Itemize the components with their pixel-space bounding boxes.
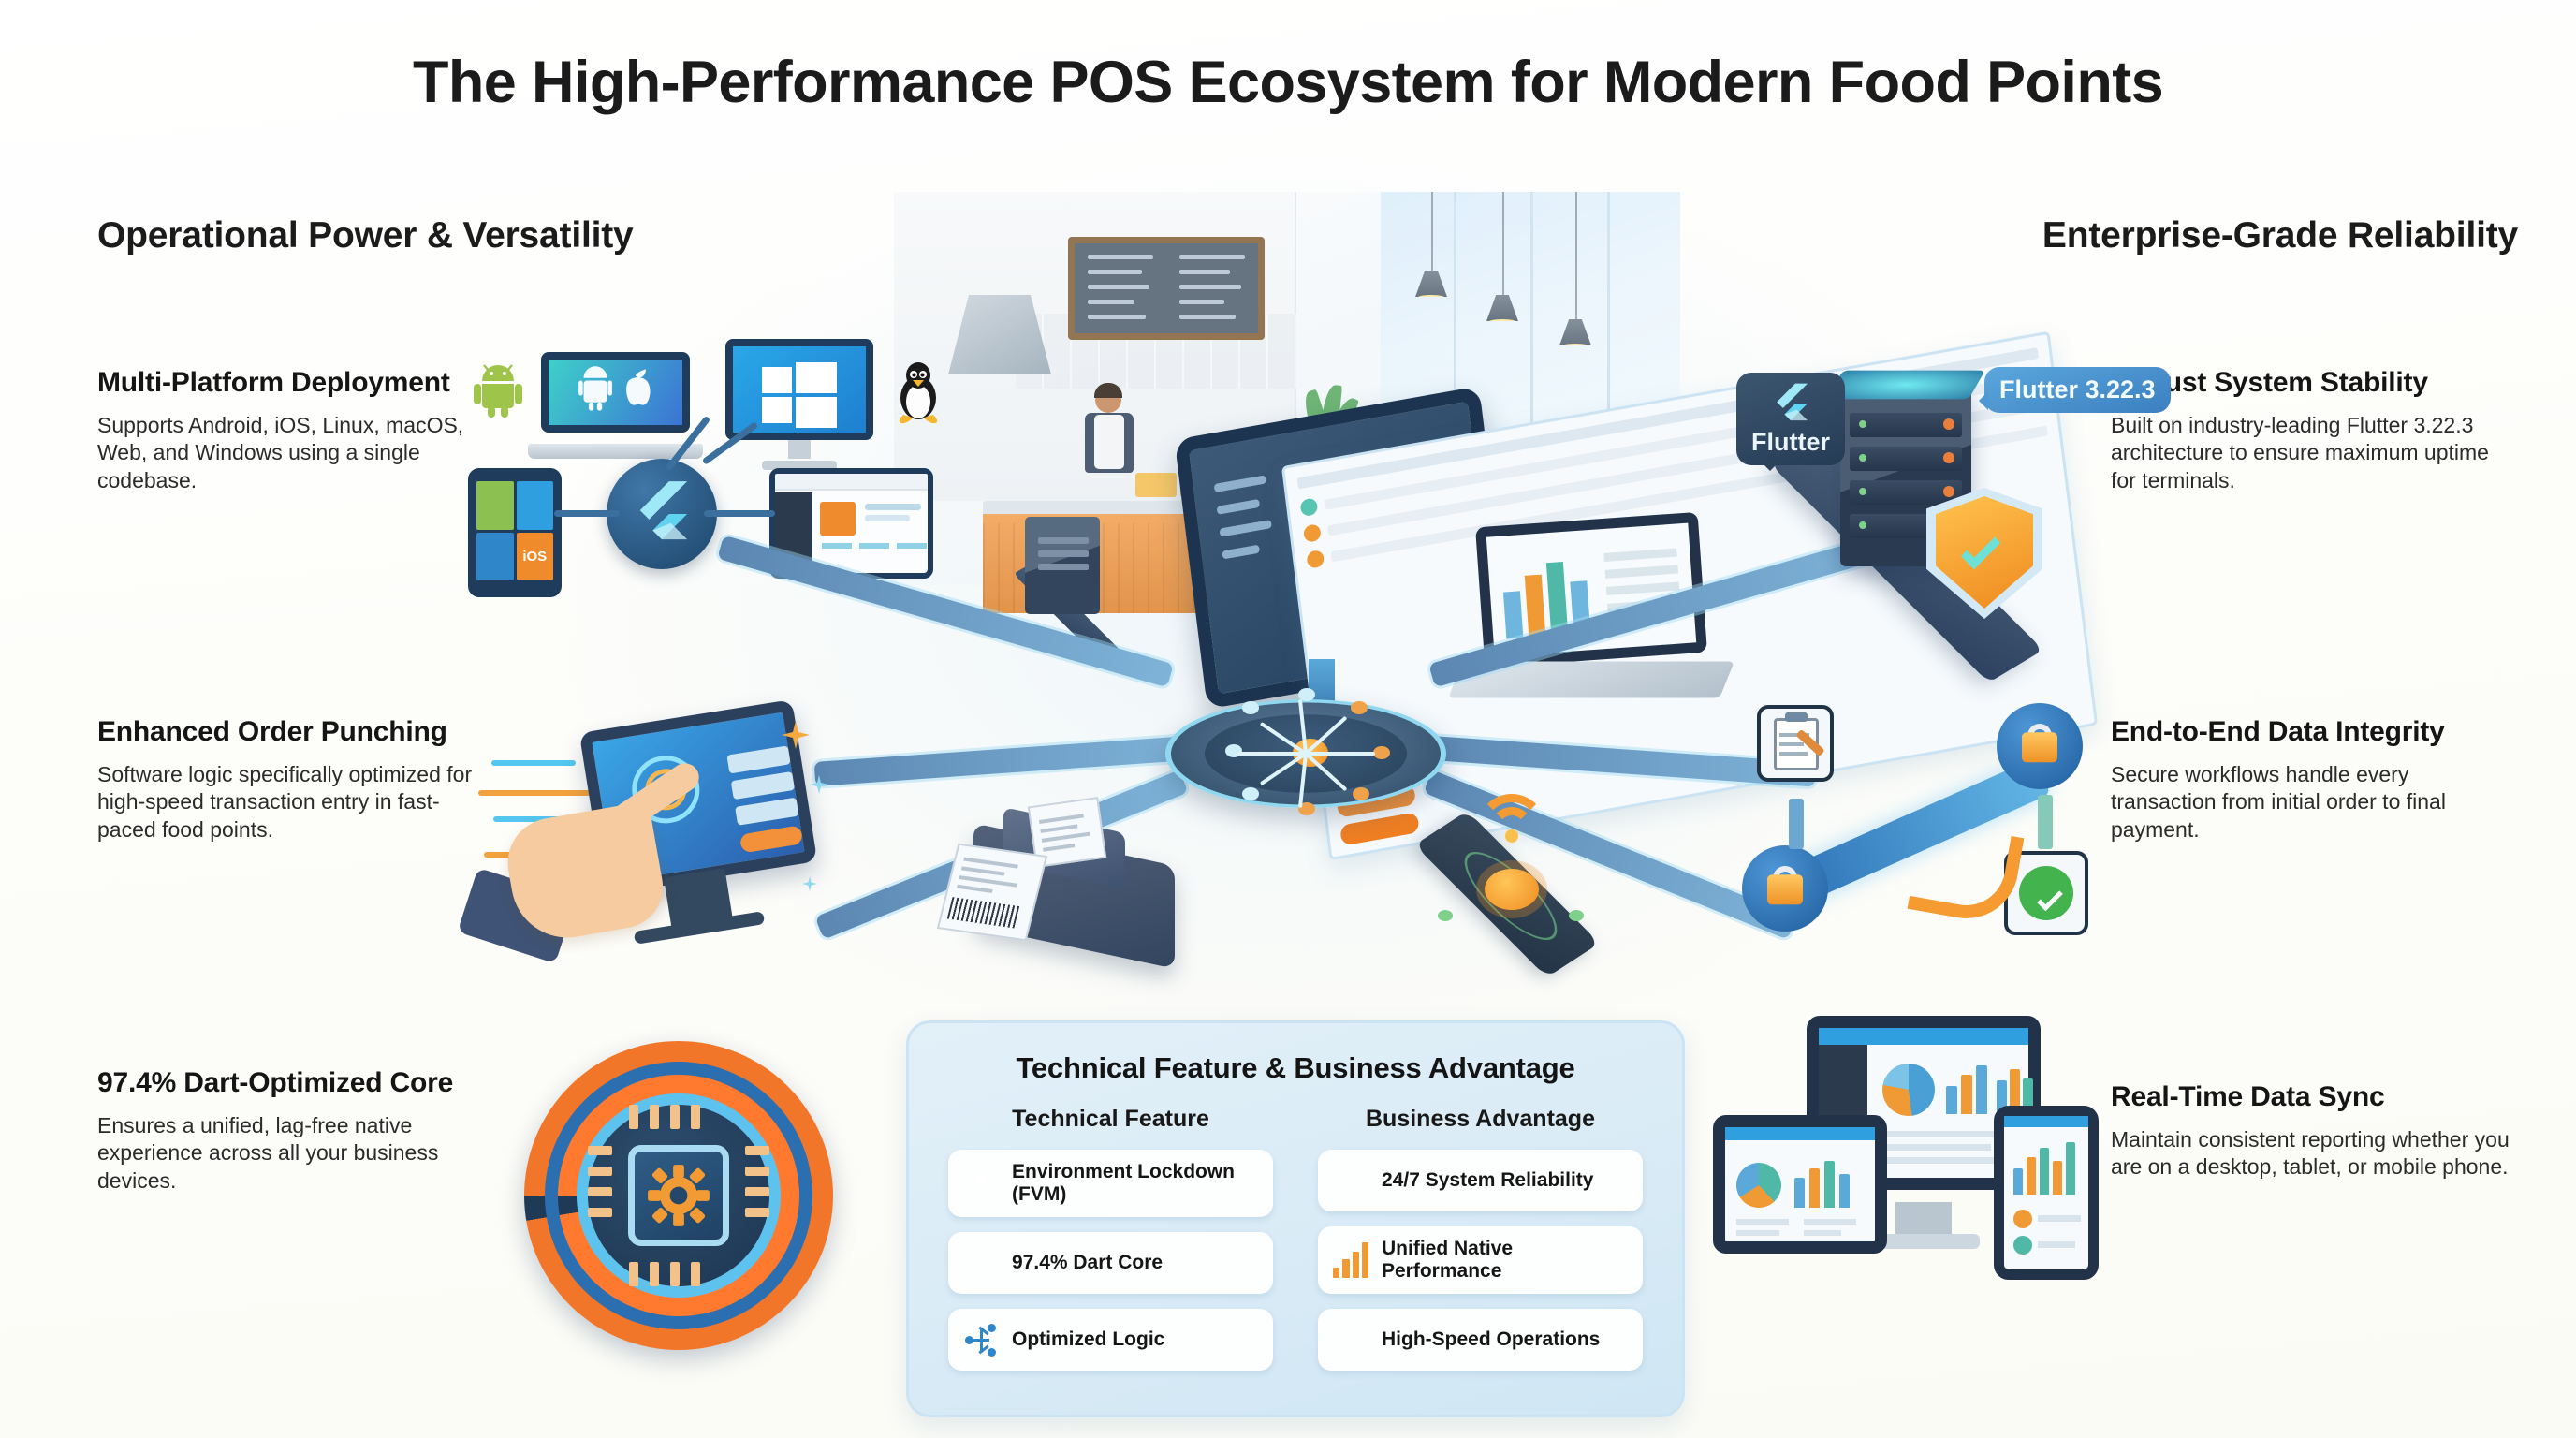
lock-icon-end (1997, 703, 2083, 789)
comparison-panel: Technical Feature & Business Advantage T… (906, 1020, 1685, 1417)
business-advantage-row-1[interactable]: Unified Native Performance (1318, 1226, 1643, 1294)
node-graph-icon (963, 1322, 999, 1357)
flow-arrow-to-check (2038, 795, 2053, 849)
technical-feature-column: Technical Feature Environment Lockdown (… (948, 1106, 1273, 1386)
wireless-payment-pad-icon (1395, 805, 1629, 983)
flow-arrow-right (704, 510, 775, 517)
tablet-os-tiles-icon: iOS (468, 468, 562, 597)
feature-body-realtime-sync: Maintain consistent reporting whether yo… (2111, 1126, 2513, 1182)
dart-logo-icon (963, 1245, 999, 1281)
feature-block-multi-platform: Multi-Platform Deployment Supports Andro… (97, 367, 472, 495)
right-column-heading: Enterprise-Grade Reliability (2042, 215, 2518, 257)
feature-block-data-integrity: End-to-End Data Integrity Secure workflo… (2111, 716, 2504, 844)
shield-check-icon (1333, 1163, 1368, 1198)
android-logo-icon (473, 363, 523, 418)
page-title: The High-Performance POS Ecosystem for M… (0, 49, 2576, 116)
feature-body-order-punching: Software logic specifically optimized fo… (97, 761, 483, 845)
feature-block-realtime-sync: Real-Time Data Sync Maintain consistent … (2111, 1081, 2513, 1181)
shield-lock-icon (963, 1166, 999, 1201)
flutter-logo-icon (607, 459, 717, 569)
technical-feature-row-0[interactable]: Environment Lockdown (FVM) (948, 1150, 1273, 1217)
business-advantage-row-0[interactable]: 24/7 System Reliability (1318, 1150, 1643, 1211)
bar-chart-icon (1333, 1242, 1368, 1278)
panel-title: Technical Feature & Business Advantage (909, 1051, 1682, 1085)
feature-heading-data-integrity: End-to-End Data Integrity (2111, 716, 2504, 748)
flow-arrow-to-form (1789, 799, 1804, 849)
feature-body-multi-platform: Supports Android, iOS, Linux, macOS, Web… (97, 412, 472, 496)
lock-icon-start (1742, 845, 1828, 932)
linux-penguin-icon (894, 360, 943, 424)
data-integrity-flow-illustration (1736, 697, 2120, 969)
rocket-icon (1333, 1322, 1368, 1357)
flutter-version-badge: Flutter 3.22.3 (1984, 367, 2171, 413)
feature-heading-order-punching: Enhanced Order Punching (97, 716, 483, 748)
feature-heading-realtime-sync: Real-Time Data Sync (2111, 1081, 2513, 1113)
feature-body-robust-stability: Built on industry-leading Flutter 3.22.3… (2111, 412, 2504, 496)
business-advantage-label-2: High-Speed Operations (1382, 1328, 1600, 1351)
feature-heading-multi-platform: Multi-Platform Deployment (97, 367, 472, 399)
pos-kiosk-terminal-icon (1189, 412, 1498, 683)
business-advantage-column-header: Business Advantage (1318, 1106, 1643, 1133)
technical-feature-label-1: 97.4% Dart Core (1012, 1252, 1163, 1274)
business-advantage-column: Business Advantage 24/7 System Reliabili… (1318, 1106, 1643, 1386)
technical-feature-label-2: Optimized Logic (1012, 1328, 1164, 1351)
menu-board-icon (1068, 237, 1265, 340)
left-column-heading: Operational Power & Versatility (97, 215, 634, 257)
feature-body-dart-core: Ensures a unified, lag-free native exper… (97, 1112, 472, 1196)
business-advantage-label-1: Unified Native Performance (1382, 1238, 1628, 1283)
flutter-logo-badge: Flutter (1736, 373, 1845, 465)
feature-body-data-integrity: Secure workflows handle every transactio… (2111, 761, 2504, 845)
technical-feature-row-1[interactable]: 97.4% Dart Core (948, 1232, 1273, 1294)
business-advantage-row-2[interactable]: High-Speed Operations (1318, 1309, 1643, 1371)
touchscreen-order-entry-icon (510, 712, 847, 974)
business-advantage-label-0: 24/7 System Reliability (1382, 1169, 1593, 1192)
windows-monitor-icon (725, 339, 873, 470)
flow-arrow-left (554, 510, 620, 517)
feature-block-order-punching: Enhanced Order Punching Software logic s… (97, 716, 483, 844)
mobile-phone-icon (1994, 1106, 2099, 1280)
tablet-icon (1713, 1115, 1887, 1254)
flutter-version-label: Flutter 3.22.3 (1999, 375, 2156, 404)
order-form-icon (1757, 705, 1834, 782)
multi-device-sync-illustration (1713, 1016, 2106, 1297)
pos-server-unit-icon (997, 506, 1137, 637)
laptop-device-icon (534, 346, 697, 459)
technical-feature-label-0: Environment Lockdown (FVM) (1012, 1161, 1258, 1206)
feature-block-dart-core: 97.4% Dart-Optimized Core Ensures a unif… (97, 1067, 472, 1196)
feature-heading-dart-core: 97.4% Dart-Optimized Core (97, 1067, 472, 1099)
technical-feature-row-2[interactable]: Optimized Logic (948, 1309, 1273, 1371)
flutter-badge-label: Flutter (1751, 428, 1830, 456)
technical-feature-column-header: Technical Feature (948, 1106, 1273, 1133)
dart-core-progress-ring (524, 1041, 833, 1350)
cpu-chip-icon (628, 1145, 729, 1246)
receipt-printer-icon (945, 796, 1207, 983)
